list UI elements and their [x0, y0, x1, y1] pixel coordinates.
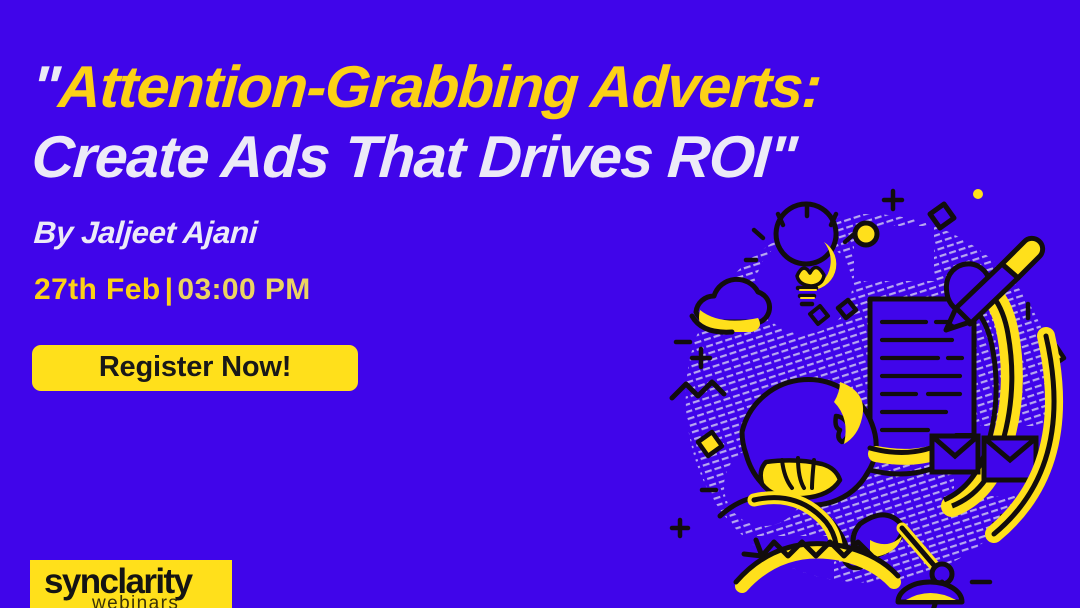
speaker-name: By Jaljeet Ajani: [33, 215, 259, 251]
page-title: "Attention-Grabbing Adverts: Create Ads …: [32, 52, 992, 192]
event-time: 03:00 PM: [177, 273, 310, 306]
register-now-button[interactable]: Register Now!: [32, 345, 358, 391]
title-line-1-text: Attention-Grabbing Adverts:: [56, 54, 823, 120]
webinar-promo-banner: "Attention-Grabbing Adverts: Create Ads …: [0, 0, 1080, 608]
logo-tagline: webinars: [92, 593, 179, 608]
envelope-icon: [932, 436, 1036, 480]
event-date: 27th Feb: [34, 273, 161, 306]
title-line-1: "Attention-Grabbing Adverts:: [30, 52, 995, 122]
title-line-2: Create Ads That Drives ROI": [30, 122, 995, 192]
schedule-separator: |: [161, 273, 178, 306]
banner-content: "Attention-Grabbing Adverts: Create Ads …: [32, 0, 732, 608]
synclarity-webinars-logo[interactable]: synclarity webinars: [30, 560, 232, 608]
schedule: 27th Feb|03:00 PM: [34, 273, 311, 307]
